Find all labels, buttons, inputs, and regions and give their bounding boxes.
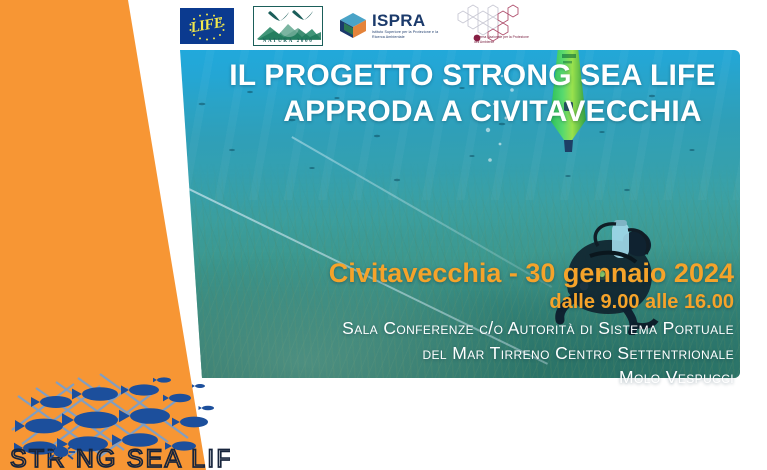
natura-2000-label: NATURA 2000 — [254, 38, 322, 44]
event-venue-line-2: del Mar Tirreno Centro Settentrionale — [200, 343, 734, 364]
poster-canvas: STR NG SEA LIFE — [0, 0, 767, 470]
event-venue-line-1: Sala Conferenze c/o Autorità di Sistema … — [200, 318, 734, 339]
air-bubbles — [472, 56, 562, 176]
ispra-mark-icon — [338, 11, 368, 41]
ispra-wordmark: ISPRA — [372, 12, 446, 29]
eu-life-flag: LIFE — [180, 8, 234, 44]
snpa-logo: Sistema Nazionale per la Protezione dell… — [452, 4, 552, 48]
fish-specks — [172, 80, 740, 200]
natura-2000-frame: NATURA 2000 — [253, 6, 323, 46]
event-details: Civitavecchia - 30 gennaio 2024 dalle 9.… — [200, 258, 740, 388]
life-programme-logo: LIFE — [170, 8, 244, 44]
event-city-date: Civitavecchia - 30 gennaio 2024 — [200, 258, 734, 289]
event-hours: dalle 9.00 alle 16.00 — [200, 290, 734, 314]
snpa-subtitle: Sistema Nazionale per la Protezione dell… — [474, 35, 550, 45]
ispra-logo: ISPRA Istituto Superiore per la Protezio… — [332, 11, 452, 41]
poster-footer: LIFE Prodotto realizzato nell'ambito del… — [0, 382, 767, 470]
natura-2000-logo: NATURA 2000 — [244, 6, 332, 46]
header-logo-row: LIFE — [170, 2, 570, 50]
ispra-subtitle: Istituto Superiore per la Protezione e l… — [372, 30, 446, 40]
